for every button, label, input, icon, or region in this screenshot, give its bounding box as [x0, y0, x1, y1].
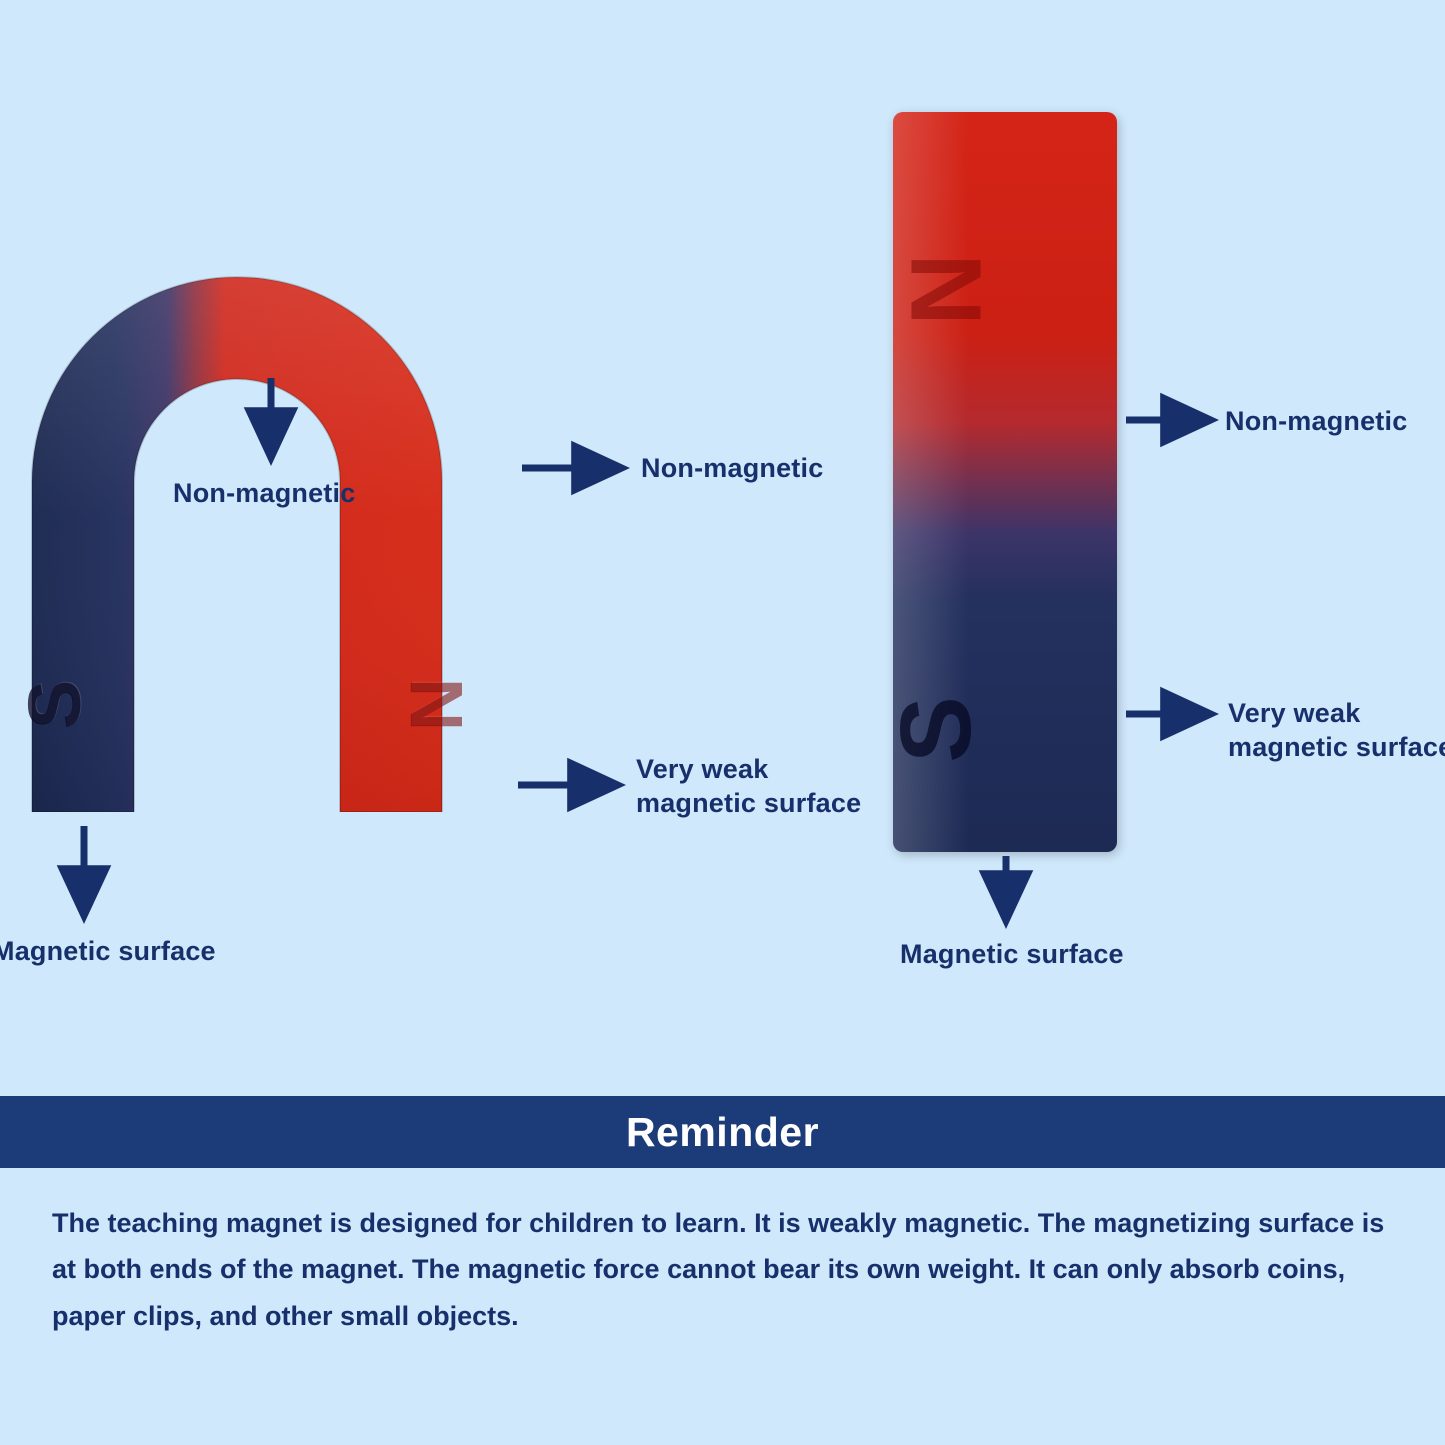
bar-magnet-north-pole-letter: N	[893, 253, 1005, 325]
reminder-title: Reminder	[626, 1109, 819, 1156]
horseshoe-south-pole-letter: S	[12, 680, 97, 729]
reminder-body-text: The teaching magnet is designed for chil…	[52, 1200, 1402, 1339]
label-horseshoe-top-non-magnetic: Non-magnetic	[173, 477, 355, 511]
horseshoe-north-pole-letter: N	[394, 678, 479, 731]
label-bar-very-weak-magnetic-surface: Very weak magnetic surface	[1228, 697, 1445, 765]
label-bar-right-non-magnetic: Non-magnetic	[1225, 405, 1407, 439]
bar-magnet-south-pole-letter: S	[893, 696, 994, 763]
diagram-page: S N N S	[0, 0, 1445, 1445]
horseshoe-magnet: S N	[10, 232, 530, 812]
label-horseshoe-very-weak-magnetic-surface: Very weak magnetic surface	[636, 753, 861, 821]
magnet-illustration: S N N S	[0, 0, 1445, 1090]
label-horseshoe-right-non-magnetic: Non-magnetic	[641, 452, 823, 486]
label-horseshoe-magnetic-surface: Magnetic surface	[0, 935, 216, 969]
label-bar-magnetic-surface: Magnetic surface	[900, 938, 1124, 972]
reminder-band: Reminder	[0, 1096, 1445, 1168]
bar-magnet: N S	[893, 112, 1117, 852]
